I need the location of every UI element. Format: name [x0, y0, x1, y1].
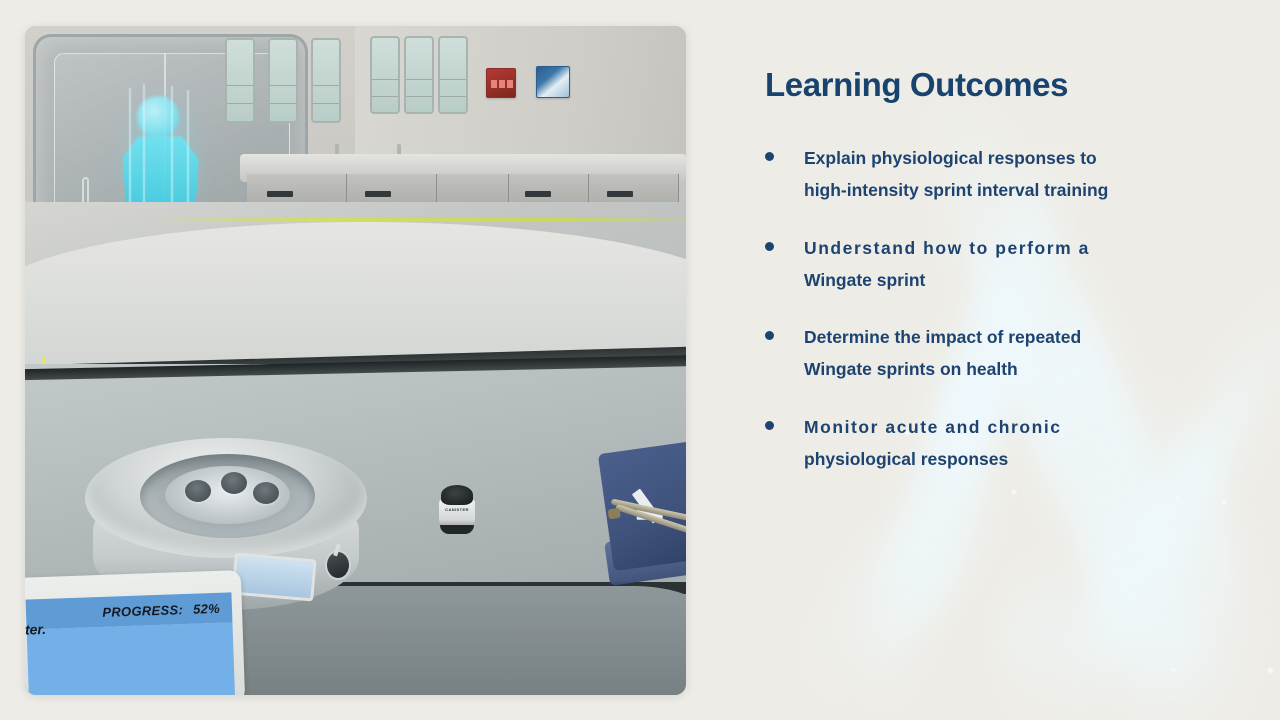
list-item: Monitor acute and chronic physiological … [765, 412, 1195, 476]
list-item: Determine the impact of repeated Wingate… [765, 322, 1195, 386]
sample-tube-3 [253, 482, 279, 504]
bullet-dot-icon [765, 421, 774, 430]
hud-progress-label: PROGRESS: [102, 602, 183, 620]
sample-tube-1 [185, 480, 211, 502]
wall-panel-2 [268, 38, 298, 123]
bullet-line-1: Determine the impact of repeated [804, 327, 1081, 347]
bullet-text: Determine the impact of repeated Wingate… [804, 322, 1081, 386]
poster-blue [536, 66, 570, 98]
bullet-line-2: Wingate sprint [804, 265, 1090, 297]
bullet-line-2: high-intensity sprint interval training [804, 175, 1108, 207]
hud-body-text: neter. [25, 621, 46, 638]
bullet-text: Monitor acute and chronic physiological … [804, 412, 1062, 476]
sample-tube-2 [221, 472, 247, 494]
centrifuge-display[interactable] [231, 553, 316, 602]
bullet-line-1: Explain physiological responses to [804, 148, 1097, 168]
hud-progress-value: 52% [193, 600, 220, 616]
bullet-dot-icon [765, 152, 774, 161]
list-item: Understand how to perform a Wingate spri… [765, 233, 1195, 297]
bullet-dot-icon [765, 331, 774, 340]
bullet-text: Understand how to perform a Wingate spri… [804, 233, 1090, 297]
canister-label: CANISTER [439, 507, 475, 512]
wall-panel-3 [311, 38, 341, 123]
wall-panel-4 [370, 36, 400, 114]
vr-scene-panel[interactable]: CANISTER PROGRESS: 52% neter. [25, 26, 686, 695]
specimen-tray[interactable] [598, 439, 686, 593]
wall-panel-1 [225, 38, 255, 123]
bullet-line-2: physiological responses [804, 444, 1062, 476]
vr-laboratory-scene: CANISTER PROGRESS: 52% neter. [25, 26, 686, 695]
poster-red [486, 68, 516, 98]
slide-content: Learning Outcomes Explain physiological … [765, 0, 1235, 720]
bullet-line-1: Monitor acute and chronic [804, 412, 1062, 444]
counter-accent-strip [145, 218, 686, 222]
bullet-line-2: Wingate sprints on health [804, 354, 1081, 386]
wall-panel-5 [404, 36, 434, 114]
bullet-dot-icon [765, 242, 774, 251]
list-item: Explain physiological responses to high-… [765, 143, 1195, 207]
wall-panel-6 [438, 36, 468, 114]
bullet-line-1: Understand how to perform a [804, 233, 1090, 265]
canister-device[interactable]: CANISTER [439, 485, 475, 535]
hud-info-card[interactable]: PROGRESS: 52% neter. [25, 570, 245, 695]
learning-outcomes-list: Explain physiological responses to high-… [765, 143, 1195, 502]
bullet-text: Explain physiological responses to high-… [804, 143, 1108, 207]
centrifuge-knob[interactable] [325, 550, 351, 580]
page-title: Learning Outcomes [765, 66, 1068, 104]
